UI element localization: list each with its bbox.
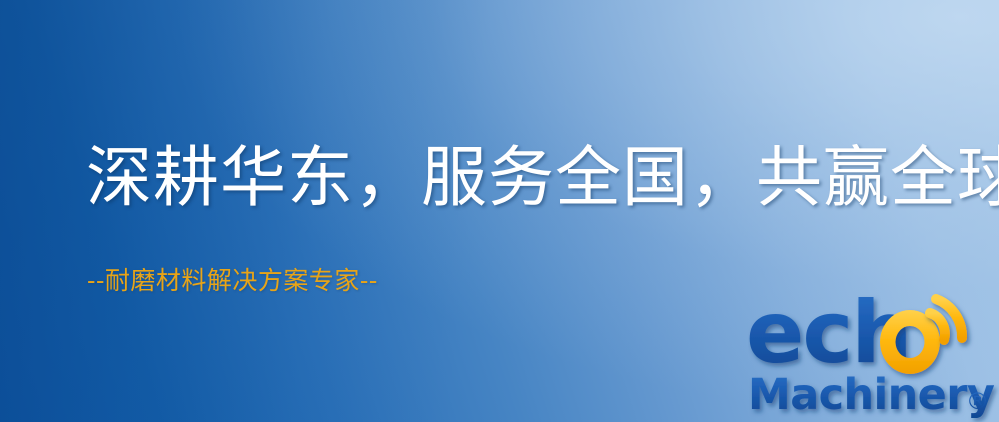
promotional-banner: 深耕华东，服务全国，共赢全球 --耐磨材料解决方案专家-- [0, 0, 999, 422]
logo-wordmark-machinery: Machinery ® [748, 370, 995, 420]
logo-text-machinery: Machinery [748, 370, 995, 420]
echo-machinery-logo: ech Machinery ® [748, 288, 999, 422]
banner-subtitle: --耐磨材料解决方案专家-- [87, 268, 378, 293]
logo-trademark-symbol: ® [966, 389, 989, 415]
banner-headline: 深耕华东，服务全国，共赢全球 [86, 145, 999, 211]
